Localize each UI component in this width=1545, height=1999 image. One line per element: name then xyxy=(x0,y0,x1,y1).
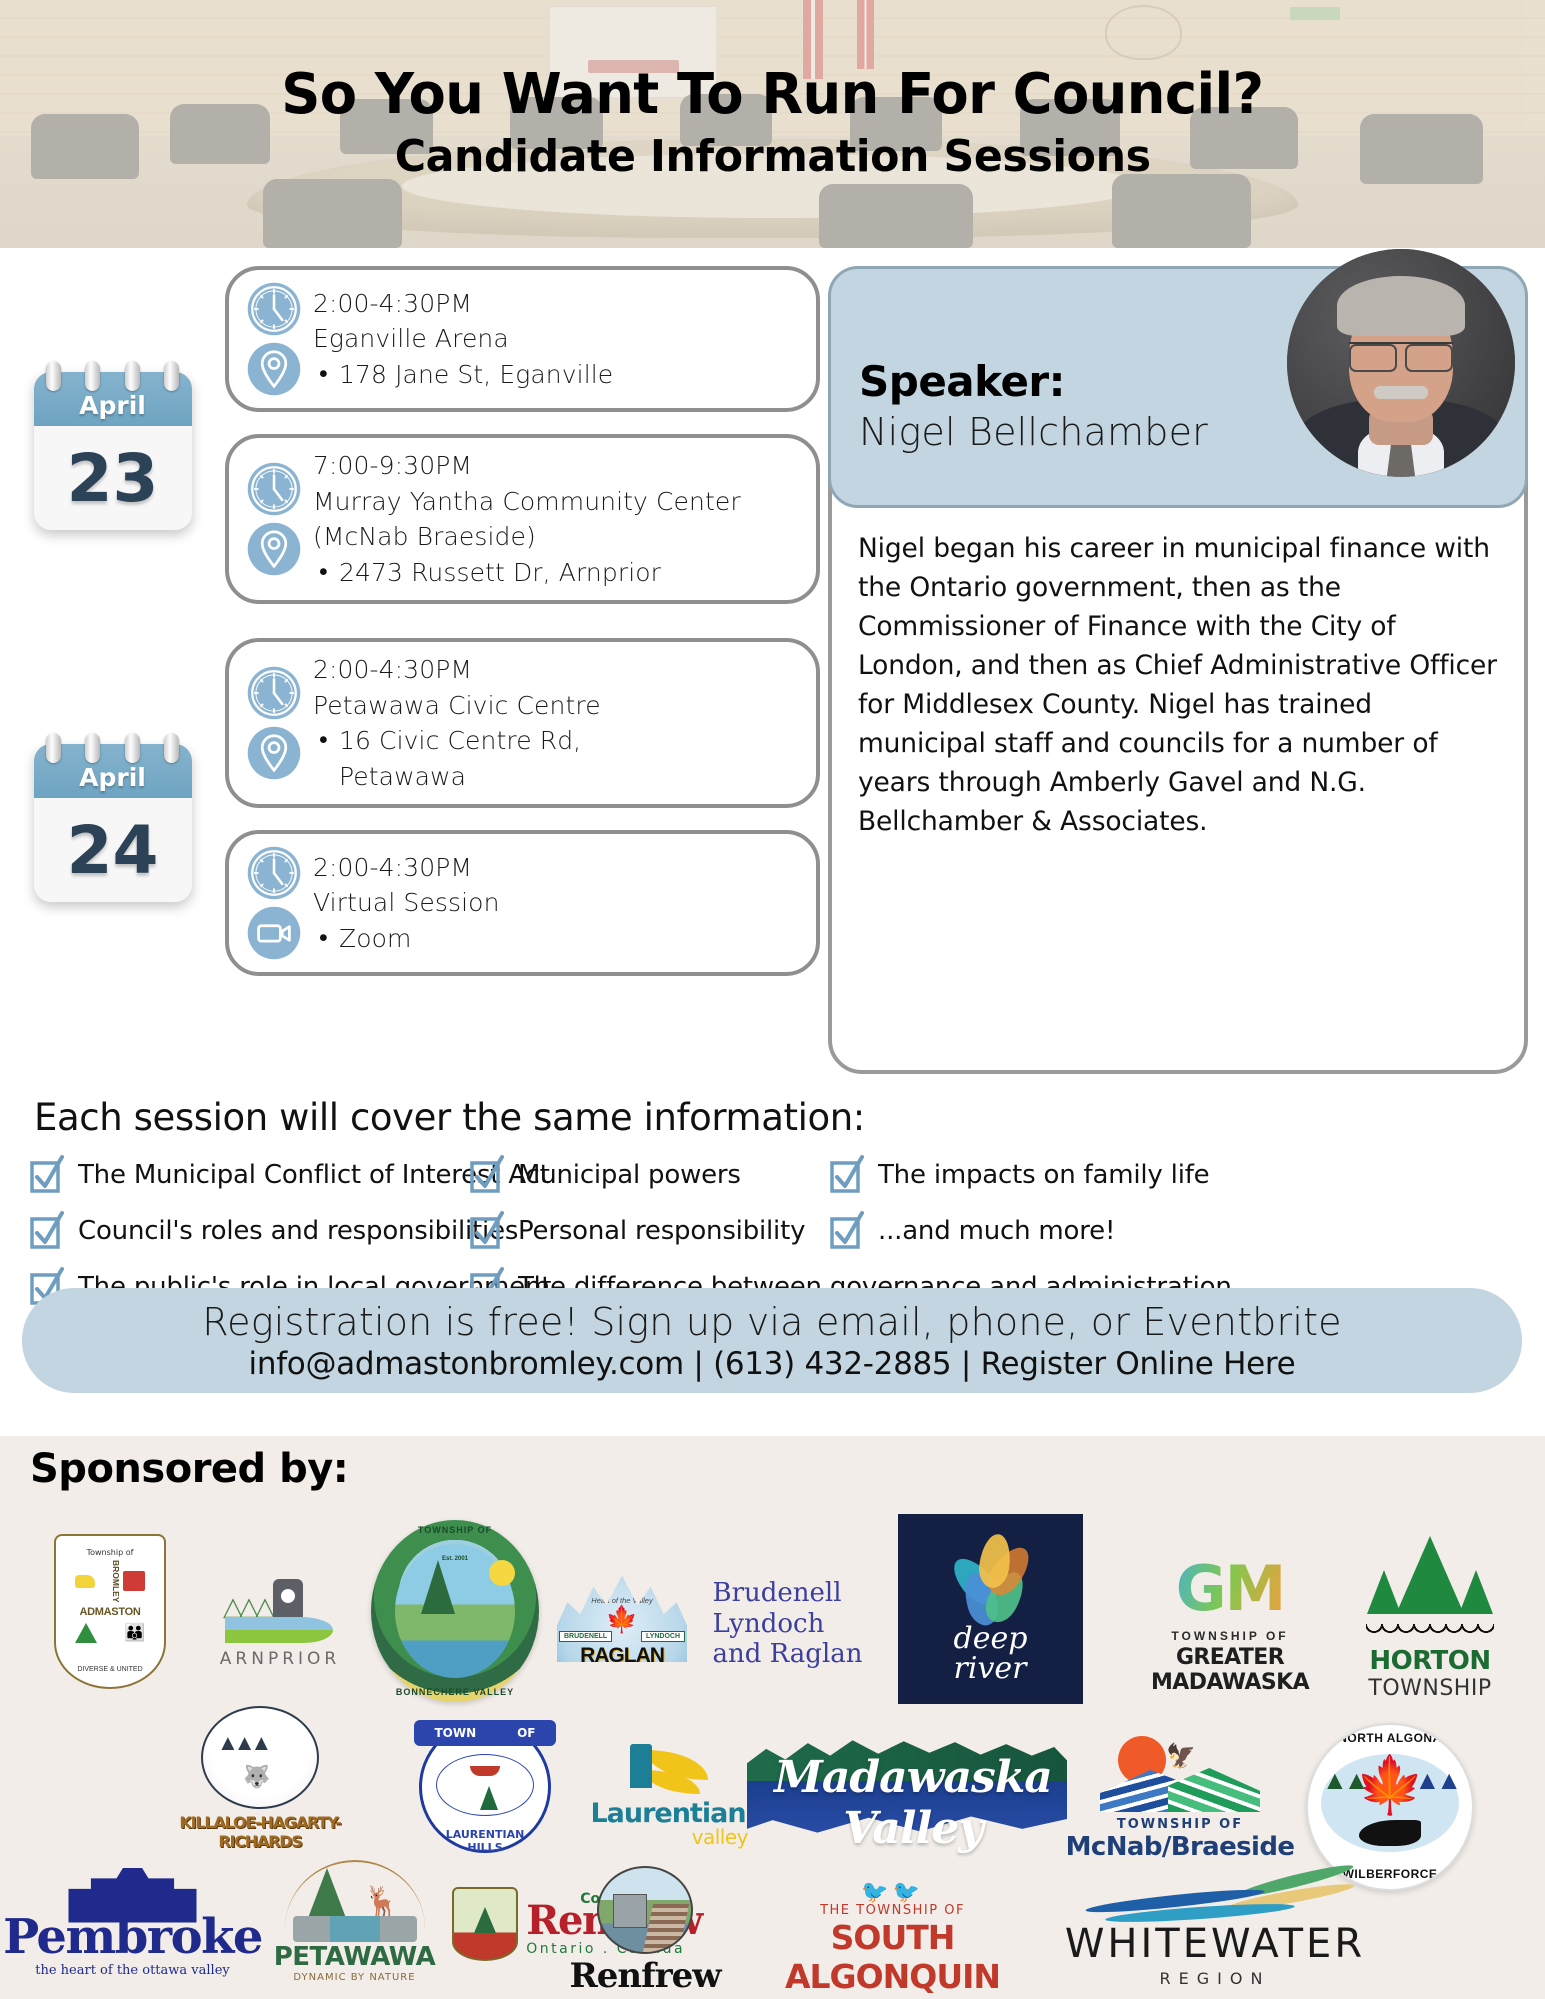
checklist-label: Municipal powers xyxy=(518,1160,741,1190)
sponsor-logo-admaston-bromley: Township of BROMLEY ADMASTON 👪 DIVERSE &… xyxy=(30,1524,190,1699)
page-subtitle: Candidate Information Sessions xyxy=(395,131,1151,182)
sponsor-band-2: LYNDOCH xyxy=(641,1631,685,1642)
checklist-item[interactable]: Municipal powers xyxy=(470,1155,830,1195)
sponsor-subname: valley xyxy=(692,1825,748,1849)
speaker-headshot-avatar xyxy=(1287,249,1515,477)
location-pin-icon xyxy=(245,724,303,782)
sponsor-logo-laurentian-hills: TOWN OF LAURENTIAN HILLS xyxy=(390,1704,580,1869)
sponsor-word: BROMLEY xyxy=(100,1560,120,1603)
sponsor-caption: TOWNSHIP OF xyxy=(1117,1817,1243,1832)
session-address: 2473 Russett Dr, Arnprior xyxy=(339,555,802,591)
speaker-header: Speaker: Nigel Bellchamber xyxy=(828,266,1528,508)
sponsor-name: Madawaska Valley xyxy=(754,1752,1072,1854)
checklist-item[interactable]: The impacts on family life xyxy=(830,1155,1250,1195)
sponsor-logo-mcnab-braeside: 🦅 TOWNSHIP OF McNab/Braeside xyxy=(1075,1724,1285,1874)
sponsor-name: McNab/Braeside xyxy=(1066,1832,1295,1862)
sponsor-logo-petawawa: 🦌 PETAWAWA DYNAMIC BY NATURE xyxy=(262,1856,447,1986)
session-group-april-24: April 24 xyxy=(0,638,820,976)
session-card-icons xyxy=(235,844,313,962)
sponsor-logo-arnprior: △△△ ARNPRIOR xyxy=(200,1564,360,1684)
clock-icon xyxy=(245,280,303,338)
session-card-text: 2:00-4:30PM Virtual Session Zoom xyxy=(313,850,802,957)
checkbox-checked-icon xyxy=(30,1211,64,1251)
sponsor-logo-laurentian-valley: Laurentian valley xyxy=(588,1736,748,1856)
poster-body: April 23 xyxy=(0,248,1545,1436)
sessions-section: April 23 xyxy=(0,248,820,1058)
session-venue: Eganville Arena xyxy=(313,321,802,357)
sponsor-line-1: deep xyxy=(954,1624,1028,1654)
checkbox-checked-icon xyxy=(470,1155,504,1195)
sponsor-banner-2: OF xyxy=(517,1726,535,1740)
calendar-month: April xyxy=(79,391,146,420)
calendar-month: April xyxy=(79,763,146,792)
sponsor-logo-madawaska-valley: Madawaska Valley xyxy=(742,1726,1072,1851)
sponsor-logo-bonnechere-valley: TOWNSHIP OF Est. 2001 BONNECHERE VALLEY xyxy=(360,1516,550,1706)
sponsor-name: WHITEWATER xyxy=(1065,1921,1365,1967)
registration-contact-line[interactable]: info@admastonbromley.com | (613) 432-288… xyxy=(249,1346,1296,1382)
session-time: 2:00-4:30PM xyxy=(313,652,802,688)
calendar-icon-april-24: April 24 xyxy=(34,744,192,902)
clock-icon xyxy=(245,460,303,518)
sponsor-logo-greater-madawaska: GM TOWNSHIP OF GREATER MADAWASKA xyxy=(1135,1541,1325,1706)
speaker-panel: Speaker: Nigel Bellchamber Nigel began h… xyxy=(828,266,1528,1074)
session-venue: Petawawa Civic Centre xyxy=(313,688,802,724)
location-pin-icon xyxy=(245,520,303,578)
checklist-label: Personal responsibility xyxy=(518,1216,805,1246)
session-address: Zoom xyxy=(339,921,802,957)
speaker-bio: Nigel began his career in municipal fina… xyxy=(832,508,1524,860)
sponsor-caption: TOWNSHIP OF xyxy=(1171,1629,1288,1643)
session-time: 2:00-4:30PM xyxy=(313,286,802,322)
sponsor-line-2: Lyndoch xyxy=(712,1609,862,1640)
sponsor-caption: THE TOWNSHIP OF xyxy=(820,1903,965,1918)
sponsor-logo-pembroke: Pembroke the heart of the ottawa valley xyxy=(10,1856,255,1986)
sponsor-band-1: BRUDENELL xyxy=(559,1631,612,1642)
session-time: 2:00-4:30PM xyxy=(313,850,802,886)
sponsor-logo-deep-river: deep river xyxy=(898,1514,1083,1704)
sponsor-name: GREATER MADAWASKA xyxy=(1135,1645,1325,1695)
sponsor-tagline: DYNAMIC BY NATURE xyxy=(293,1972,415,1983)
checkbox-checked-icon xyxy=(30,1155,64,1195)
location-pin-icon xyxy=(245,340,303,398)
checklist-section: Each session will cover the same informa… xyxy=(0,1096,1545,1315)
sponsor-name: RAGLAN xyxy=(557,1644,687,1668)
sponsors-title: Sponsored by: xyxy=(30,1446,348,1492)
session-group-april-23: April 23 xyxy=(0,266,820,604)
session-card-text: 7:00-9:30PM Murray Yantha Community Cent… xyxy=(313,448,802,590)
sponsor-name: BONNECHERE VALLEY xyxy=(371,1687,539,1697)
calendar-day: 23 xyxy=(34,426,192,530)
sponsor-line-1: Brudenell xyxy=(712,1578,862,1609)
session-venue: Virtual Session xyxy=(313,885,802,921)
sponsor-caption: TOWNSHIP OF xyxy=(371,1525,539,1535)
checklist-row: Council's roles and responsibilities Per… xyxy=(0,1203,1545,1259)
sponsor-logo-killaloe-hagarty-richards: ▲▲▲ 🐺 KILLALOE-HAGARTY-RICHARDS xyxy=(155,1706,365,1851)
checklist-label: The impacts on family life xyxy=(878,1160,1209,1190)
video-camera-icon xyxy=(245,904,303,962)
sponsor-caption: NORTH ALGONA xyxy=(1308,1731,1472,1745)
sponsor-tagline: the heart of the ottawa valley xyxy=(35,1963,230,1978)
sponsor-est: Est. 2001 xyxy=(371,1556,539,1562)
checkbox-checked-icon xyxy=(830,1155,864,1195)
sponsor-logo-brudenell-lyndoch-raglan-crest: Heart of the Valley 🍁 BRUDENELL LYNDOCH … xyxy=(548,1556,696,1676)
checklist-label: ...and much more! xyxy=(878,1216,1115,1246)
sponsor-logo-brudenell-lyndoch-and-raglan: Brudenell Lyndoch and Raglan xyxy=(700,1564,875,1684)
session-time: 7:00-9:30PM xyxy=(313,448,802,484)
checklist-item[interactable]: Council's roles and responsibilities xyxy=(30,1211,470,1251)
checklist-item[interactable]: ...and much more! xyxy=(830,1211,1250,1251)
sponsor-logo-town-of-renfrew: Renfrew xyxy=(560,1866,730,1996)
checklist-heading: Each session will cover the same informa… xyxy=(34,1096,1545,1139)
page-title: So You Want To Run For Council? xyxy=(281,66,1263,125)
calendar-icon-april-23: April 23 xyxy=(34,372,192,530)
calendar-column: April 23 xyxy=(0,266,225,604)
poster-header: So You Want To Run For Council? Candidat… xyxy=(0,0,1545,248)
sponsor-name: Renfrew xyxy=(569,1956,720,1996)
sponsor-line-2: river xyxy=(954,1654,1028,1684)
session-card[interactable]: 7:00-9:30PM Murray Yantha Community Cent… xyxy=(225,434,820,604)
checklist-label: Council's roles and responsibilities xyxy=(78,1216,518,1246)
calendar-column: April 24 xyxy=(0,638,225,976)
sponsor-logo-whitewater-region: WHITEWATER REGION xyxy=(1060,1866,1370,1991)
sponsor-line-3: and Raglan xyxy=(712,1639,862,1670)
session-card-icons xyxy=(235,460,313,578)
checklist-item[interactable]: Personal responsibility xyxy=(470,1211,830,1251)
checklist-item[interactable]: The Municipal Conflict of Interest Act xyxy=(30,1155,470,1195)
session-card-text: 2:00-4:30PM Petawawa Civic Centre 16 Civ… xyxy=(313,652,802,794)
sponsor-name: PETAWAWA xyxy=(274,1942,436,1972)
session-card-icons xyxy=(235,280,313,398)
sponsor-name: ARNPRIOR xyxy=(220,1649,340,1669)
sponsor-footer: DIVERSE & UNITED xyxy=(77,1666,142,1673)
session-card[interactable]: 2:00-4:30PM Eganville Arena 178 Jane St,… xyxy=(225,266,820,412)
sponsor-logo-horton-township: HORTON TOWNSHIP xyxy=(1340,1528,1520,1708)
session-address: 178 Jane St, Eganville xyxy=(339,357,802,393)
checklist-row: The Municipal Conflict of Interest Act M… xyxy=(0,1147,1545,1203)
session-card[interactable]: 2:00-4:30PM Petawawa Civic Centre 16 Civ… xyxy=(225,638,820,808)
sponsor-name: SOUTH ALGONQUIN xyxy=(760,1918,1025,1996)
calendar-day: 24 xyxy=(34,798,192,902)
sponsor-name: KILLALOE-HAGARTY-RICHARDS xyxy=(155,1813,365,1851)
checkbox-checked-icon xyxy=(830,1211,864,1251)
sponsor-name: LAURENTIAN HILLS xyxy=(428,1828,542,1852)
sponsor-subname: TOWNSHIP xyxy=(1368,1676,1491,1701)
sponsor-name: ADMASTON xyxy=(80,1606,141,1618)
registration-banner: Registration is free! Sign up via email,… xyxy=(22,1288,1522,1393)
checkbox-checked-icon xyxy=(470,1211,504,1251)
clock-icon xyxy=(245,844,303,902)
sponsor-monogram: GM xyxy=(1176,1552,1285,1625)
sponsor-subname: REGION xyxy=(1160,1969,1271,1988)
session-card[interactable]: 2:00-4:30PM Virtual Session Zoom xyxy=(225,830,820,976)
clock-icon xyxy=(245,664,303,722)
calendar-rings xyxy=(46,361,180,391)
sponsor-name: HORTON xyxy=(1369,1646,1490,1676)
sponsor-banner-1: TOWN xyxy=(434,1726,476,1740)
sponsor-caption: Township of xyxy=(87,1548,134,1557)
session-venue: Murray Yantha Community Center (McNab Br… xyxy=(313,484,793,555)
session-address: 16 Civic Centre Rd, Petawawa xyxy=(339,723,639,794)
registration-headline: Registration is free! Sign up via email,… xyxy=(202,1300,1342,1344)
session-card-text: 2:00-4:30PM Eganville Arena 178 Jane St,… xyxy=(313,286,802,393)
calendar-rings xyxy=(46,733,180,763)
sponsor-logo-south-algonquin: 🐦🐦 THE TOWNSHIP OF SOUTH ALGONQUIN xyxy=(760,1891,1025,1986)
sponsors-section: Sponsored by: Township of BROMLEY ADMAST… xyxy=(0,1436,1545,1999)
session-card-icons xyxy=(235,664,313,782)
